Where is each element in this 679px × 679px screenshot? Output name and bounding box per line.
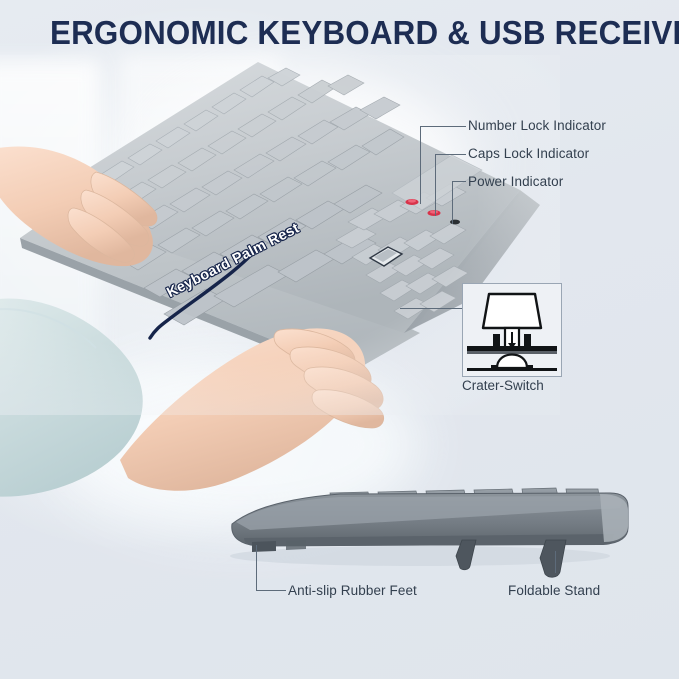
leader-crater-switch <box>400 308 462 309</box>
label-power-indicator: Power Indicator <box>468 174 563 189</box>
leader-rubber-feet-h <box>256 590 286 591</box>
backdrop-glow-top <box>150 70 480 250</box>
highlighted-key <box>370 247 402 266</box>
backdrop-window-left <box>0 60 100 360</box>
crater-switch-svg <box>463 284 561 376</box>
leader-rubber-feet-v <box>256 545 257 590</box>
leader-number-lock-h <box>420 126 466 127</box>
label-anti-slip-rubber-feet: Anti-slip Rubber Feet <box>288 583 417 598</box>
leader-power-h <box>452 181 466 182</box>
leader-caps-lock-v <box>435 154 436 216</box>
leader-power-v <box>452 181 453 224</box>
foldable-stand-legs <box>456 540 566 577</box>
leader-number-lock-v <box>420 126 421 204</box>
backdrop-glow-bottom <box>60 360 420 530</box>
leader-foldable-stand-v <box>555 551 556 573</box>
leader-caps-lock-h <box>435 154 466 155</box>
anti-slip-rubber-foot <box>252 540 306 552</box>
page-title: ERGONOMIC KEYBOARD & USB RECEIVER <box>50 14 620 52</box>
crater-switch-diagram <box>462 283 562 377</box>
keycap-shape <box>483 294 541 328</box>
label-caps-lock-indicator: Caps Lock Indicator <box>468 146 589 161</box>
caption-crater-switch: Crater-Switch <box>462 378 572 393</box>
infographic-canvas: ERGONOMIC KEYBOARD & USB RECEIVER <box>0 0 679 679</box>
label-foldable-stand: Foldable Stand <box>508 583 600 598</box>
label-number-lock-indicator: Number Lock Indicator <box>468 118 606 133</box>
